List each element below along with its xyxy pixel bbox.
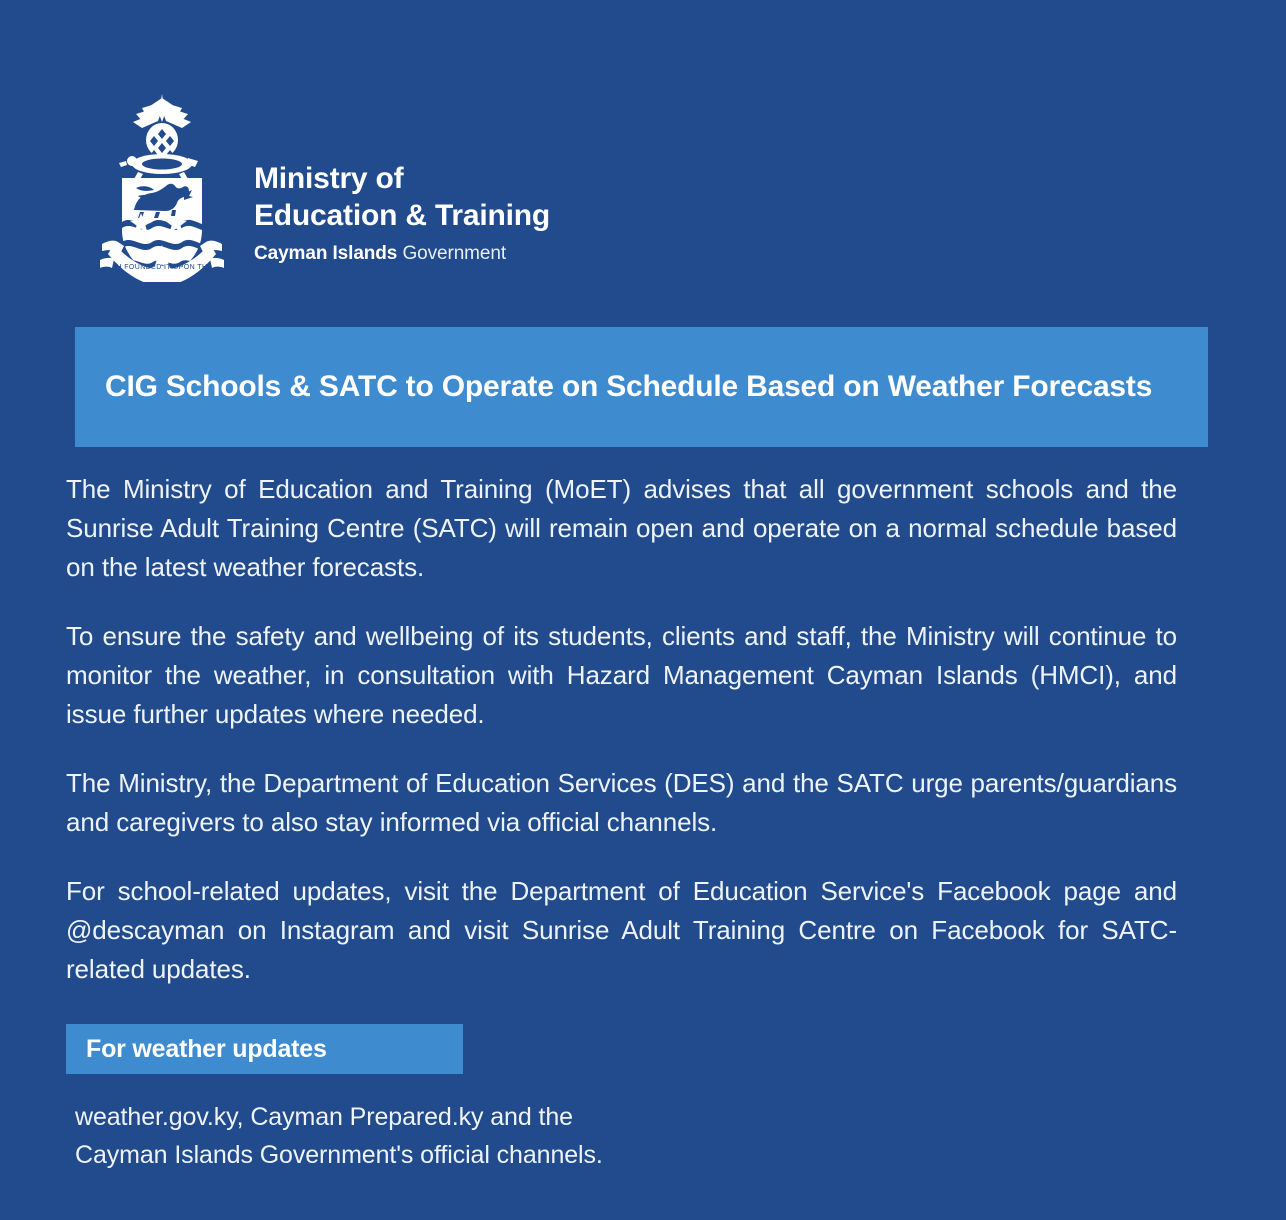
weather-updates-label: For weather updates <box>86 1035 327 1064</box>
footer-line-2: Cayman Islands Government's official cha… <box>75 1136 1075 1174</box>
body-paragraph: For school-related updates, visit the De… <box>66 872 1177 989</box>
official-channels-footer: weather.gov.ky, Cayman Prepared.ky and t… <box>75 1098 1075 1174</box>
government-subtitle-light: Government <box>402 243 506 264</box>
government-subtitle-bold: Cayman Islands <box>254 243 397 264</box>
body-paragraph: The Ministry, the Department of Educatio… <box>66 764 1177 842</box>
ministry-logo-lockup: HE HATH FOUNDED IT UPON THE SEAS Ministr… <box>96 92 550 282</box>
ministry-name-line1: Ministry of <box>254 161 550 198</box>
headline-title: CIG Schools & SATC to Operate on Schedul… <box>105 368 1152 406</box>
ministry-wordmark: Ministry of Education & Training Cayman … <box>254 109 550 265</box>
government-subtitle: Cayman Islands Government <box>254 243 550 265</box>
announcement-body: The Ministry of Education and Training (… <box>66 470 1177 989</box>
svg-text:HE HATH FOUNDED IT UPON THE SE: HE HATH FOUNDED IT UPON THE SEAS <box>96 264 228 271</box>
cayman-islands-coat-of-arms-icon: HE HATH FOUNDED IT UPON THE SEAS <box>96 92 228 282</box>
body-paragraph: To ensure the safety and wellbeing of it… <box>66 617 1177 734</box>
ministry-name-line2: Education & Training <box>254 198 550 235</box>
announcement-poster: HE HATH FOUNDED IT UPON THE SEAS Ministr… <box>0 0 1286 1220</box>
body-paragraph: The Ministry of Education and Training (… <box>66 470 1177 587</box>
weather-updates-badge: For weather updates <box>66 1024 463 1074</box>
footer-line-1: weather.gov.ky, Cayman Prepared.ky and t… <box>75 1098 1075 1136</box>
headline-banner: CIG Schools & SATC to Operate on Schedul… <box>75 327 1208 447</box>
